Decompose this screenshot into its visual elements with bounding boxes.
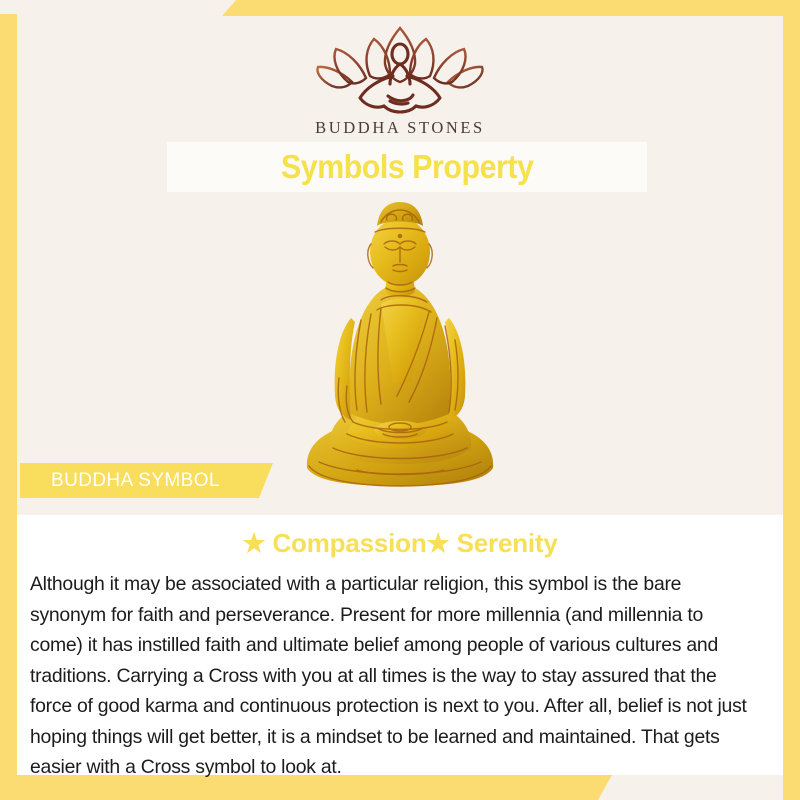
page-canvas: BUDDHA STONES Symbols Property — [17, 16, 783, 775]
hero-image-wrap — [17, 200, 783, 496]
infographic-page: BUDDHA STONES Symbols Property — [0, 0, 800, 800]
title-band: Symbols Property — [167, 142, 647, 192]
lotus-meditation-icon — [314, 24, 486, 116]
golden-seated-buddha-statue-icon — [289, 200, 511, 496]
section-tag-label: BUDDHA SYMBOL — [20, 470, 220, 492]
brand-header: BUDDHA STONES — [17, 24, 783, 138]
frame-right-bar — [783, 0, 800, 800]
content-paragraph: Although it may be associated with a par… — [17, 559, 783, 783]
frame-left-bar — [0, 14, 17, 800]
page-title: Symbols Property — [281, 148, 533, 186]
content-panel: ★ Compassion★ Serenity Although it may b… — [17, 515, 783, 775]
content-subheading: ★ Compassion★ Serenity — [17, 515, 783, 559]
section-tag-banner: BUDDHA SYMBOL — [20, 463, 273, 498]
frame-top-bar — [222, 0, 800, 16]
brand-name: BUDDHA STONES — [17, 118, 783, 138]
